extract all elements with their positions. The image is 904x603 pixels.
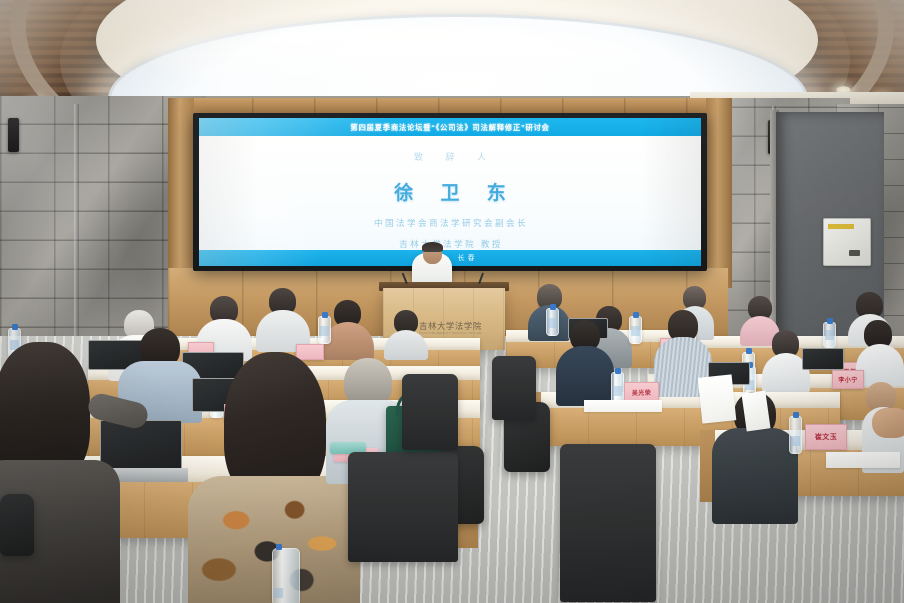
attendee-body	[556, 346, 614, 406]
chair[interactable]	[402, 374, 458, 450]
laptop[interactable]	[800, 348, 846, 374]
document-paper[interactable]	[741, 391, 770, 432]
document-paper[interactable]	[826, 452, 900, 468]
screen-glare	[199, 118, 701, 266]
wall-seam	[74, 104, 79, 344]
water-bottle[interactable]	[272, 548, 300, 603]
presenter-glasses-icon	[425, 251, 440, 255]
projection-screen: 第四届夏季商法论坛暨“《公司法》司法解释修正”研讨会 致 辞 人 徐 卫 东 中…	[199, 118, 701, 266]
attendee-arm-sleeve	[86, 391, 151, 431]
wall-control-panel[interactable]	[823, 218, 871, 266]
attendee	[256, 288, 310, 350]
screen-frame-right	[706, 98, 732, 288]
placard-name: 李小宁	[838, 375, 857, 384]
water-bottle[interactable]	[789, 416, 802, 454]
attendee-foreground-left	[0, 342, 120, 603]
hand	[872, 408, 904, 438]
chair[interactable]	[560, 444, 656, 602]
attendee-arm	[88, 398, 148, 428]
document-paper[interactable]	[584, 400, 662, 412]
attendee-body	[712, 428, 798, 524]
panel-slot	[849, 250, 860, 256]
attendee	[556, 320, 614, 404]
water-bottle[interactable]	[823, 322, 836, 348]
chair[interactable]	[492, 356, 536, 420]
chair[interactable]	[348, 452, 458, 562]
laptop-screen	[802, 348, 844, 370]
placard-name: 崔文玉	[815, 432, 837, 442]
water-bottle[interactable]	[318, 316, 331, 344]
document-paper[interactable]	[698, 374, 737, 423]
attendee-hand	[872, 408, 904, 448]
lamp-gloss	[150, 24, 650, 94]
podium-logo-cn: 吉林大学法学院	[419, 322, 482, 330]
water-bottle[interactable]	[629, 316, 642, 344]
attendee-body	[384, 330, 428, 360]
wall-speaker-icon	[8, 118, 19, 152]
panel-label-strip	[828, 224, 854, 229]
placard-name: 吴光荣	[632, 388, 651, 397]
podium-logo-en: JILIN UNIVERSITY SCHOOL OF LAW	[419, 332, 482, 335]
backpack[interactable]	[0, 494, 34, 556]
screen-frame-left	[168, 98, 194, 288]
name-placard: 崔文玉	[805, 424, 847, 450]
lecture-hall-photo: 第四届夏季商法论坛暨“《公司法》司法解释修正”研讨会 致 辞 人 徐 卫 东 中…	[0, 0, 904, 603]
attendee	[384, 310, 428, 358]
